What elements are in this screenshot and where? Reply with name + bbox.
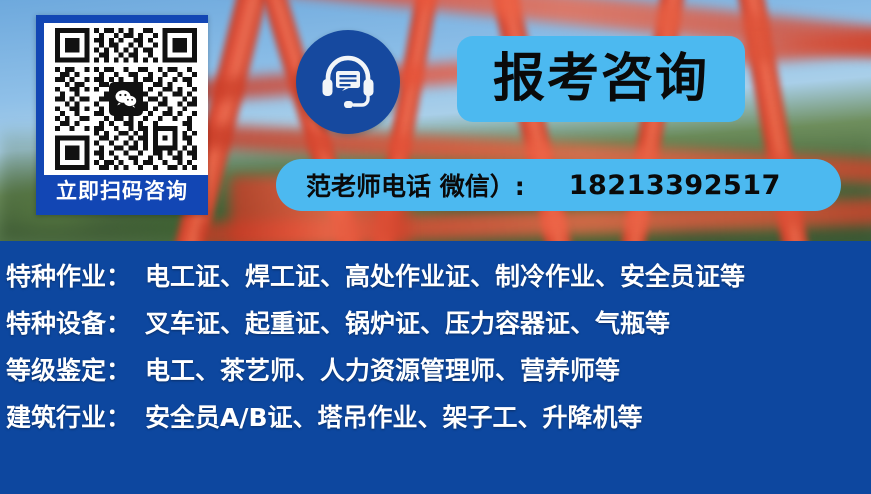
course-category-label: 建筑行业： — [6, 398, 131, 434]
wechat-glyph — [114, 89, 138, 109]
course-list-panel: 特种作业： 电工证、焊工证、高处作业证、制冷作业、安全员证等 特种设备： 叉车证… — [0, 241, 871, 494]
qr-caption: 立即扫码咨询 — [40, 171, 204, 211]
qr-code-card[interactable]: 立即扫码咨询 — [36, 15, 208, 215]
course-row: 建筑行业： 安全员A/B证、塔吊作业、架子工、升降机等 — [6, 398, 871, 445]
course-items: 电工、茶艺师、人力资源管理师、营养师等 — [145, 351, 620, 387]
course-category-label: 特种作业： — [6, 257, 131, 293]
promo-poster: 立即扫码咨询 报考咨询 范老师电话 微信）: 1821339 — [0, 0, 871, 494]
course-items: 电工证、焊工证、高处作业证、制冷作业、安全员证等 — [145, 257, 745, 293]
title-pill: 报考咨询 — [457, 36, 745, 122]
banner-photo: 立即扫码咨询 报考咨询 范老师电话 微信）: 1821339 — [0, 0, 871, 241]
course-category-label: 特种设备： — [6, 304, 131, 340]
page-title: 报考咨询 — [493, 53, 709, 105]
contact-pill[interactable]: 范老师电话 微信）: 18213392517 — [276, 159, 841, 211]
wechat-icon — [109, 82, 143, 116]
course-row: 特种设备： 叉车证、起重证、锅炉证、压力容器证、气瓶等 — [6, 304, 871, 351]
qr-code-image — [44, 23, 208, 175]
course-row: 等级鉴定： 电工、茶艺师、人力资源管理师、营养师等 — [6, 351, 871, 398]
contact-phone-number[interactable]: 18213392517 — [569, 170, 781, 201]
course-row: 特种作业： 电工证、焊工证、高处作业证、制冷作业、安全员证等 — [6, 257, 871, 304]
headset-support-icon — [318, 53, 378, 111]
qr-matrix — [55, 28, 197, 170]
course-items: 安全员A/B证、塔吊作业、架子工、升降机等 — [145, 398, 643, 434]
support-badge[interactable] — [296, 30, 400, 134]
contact-label: 范老师电话 微信）: — [306, 167, 525, 203]
course-category-label: 等级鉴定： — [6, 351, 131, 387]
course-items: 叉车证、起重证、锅炉证、压力容器证、气瓶等 — [145, 304, 670, 340]
